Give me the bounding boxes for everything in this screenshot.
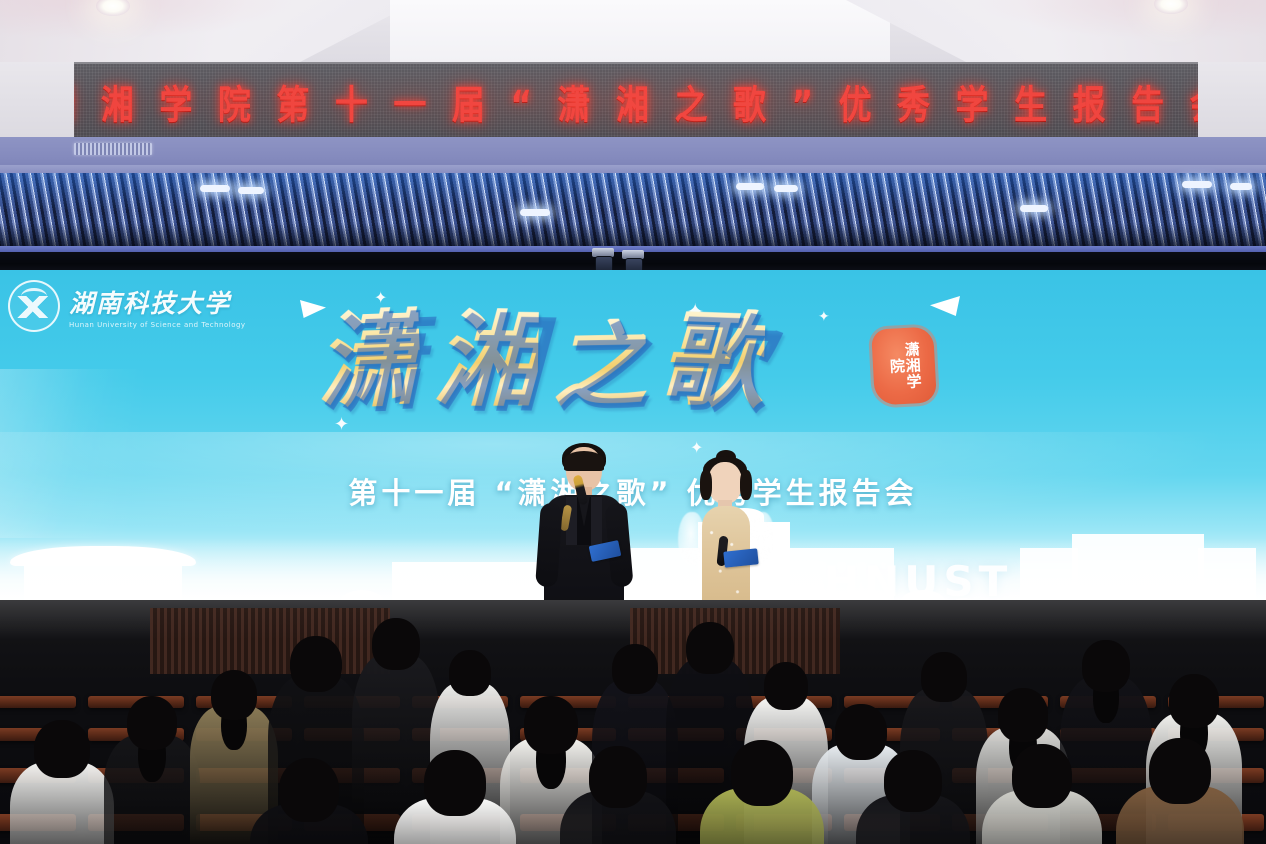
ceiling-center-panel xyxy=(390,0,890,62)
female-host-sleeve-left xyxy=(678,512,704,566)
ceiling xyxy=(0,0,1266,62)
female-host-head xyxy=(708,462,742,504)
led-banner-text: 潇 湘 学 院 第 十 一 届 “ 潇 湘 之 歌 ” 优 秀 学 生 报 告 … xyxy=(74,73,1198,130)
audience-member-head xyxy=(279,758,339,822)
ceiling-light-glare xyxy=(1230,183,1252,190)
audience-member-head xyxy=(764,662,808,710)
title-char: 之 xyxy=(551,318,647,414)
air-vent xyxy=(74,143,152,155)
ceiling-light-glare xyxy=(238,187,264,194)
sparkle-icon: ✦ xyxy=(818,310,830,324)
audience-member-head xyxy=(921,652,967,702)
audience-area xyxy=(0,600,1266,844)
audience-member-head xyxy=(34,720,90,778)
audience-member xyxy=(104,696,200,844)
audience-member xyxy=(1116,738,1244,844)
audience-member xyxy=(250,758,368,844)
female-host-hair-side xyxy=(700,470,712,500)
banner-wall-right xyxy=(1196,62,1266,137)
audience-member-head xyxy=(449,650,491,696)
ceiling-plenum xyxy=(0,137,1266,257)
audience-member-head xyxy=(731,740,793,806)
banner-wall-left xyxy=(0,62,76,137)
red-seal-stamp: 潇湘学院 xyxy=(871,326,937,405)
male-host-fringe xyxy=(564,451,604,471)
audience-member-head xyxy=(998,688,1048,742)
audience-member-head xyxy=(424,750,486,816)
university-name-en: Hunan University of Science and Technolo… xyxy=(69,321,246,329)
ceiling-light-glare xyxy=(200,185,230,192)
cue-cards xyxy=(723,548,758,567)
decor-triangle-icon xyxy=(930,296,960,316)
audience-member-head xyxy=(612,644,658,694)
audience-member-head xyxy=(372,618,420,670)
ceiling-light-glare xyxy=(520,209,550,216)
audience-member-head xyxy=(884,750,942,812)
audience-member xyxy=(856,750,970,844)
university-name-cn: 湖南科技大学 xyxy=(69,284,246,320)
auditorium-photo: 潇 湘 学 院 第 十 一 届 “ 潇 湘 之 歌 ” 优 秀 学 生 报 告 … xyxy=(0,0,1266,844)
audience-member xyxy=(982,744,1102,844)
led-banner: 潇 湘 学 院 第 十 一 届 “ 潇 湘 之 歌 ” 优 秀 学 生 报 告 … xyxy=(74,62,1198,141)
audience-member-head xyxy=(1169,674,1219,728)
event-title-calligraphy: 潇 湘 之 歌 xyxy=(316,308,764,412)
audience-member-head xyxy=(1012,744,1072,808)
ceiling-light-wash-right xyxy=(966,0,1266,40)
audience-member-head xyxy=(1082,640,1130,692)
sparkle-icon: ✦ xyxy=(690,440,703,456)
auditorium-seat xyxy=(0,696,76,708)
university-logo-text: 湖南科技大学 Hunan University of Science and T… xyxy=(69,284,246,329)
audience-member-head xyxy=(290,636,342,692)
audience-member-head xyxy=(686,622,734,674)
audience-member xyxy=(700,740,824,844)
audience-member xyxy=(394,750,516,844)
audience-member-head xyxy=(1149,738,1211,804)
university-emblem-icon xyxy=(8,280,60,332)
ceiling-light-glare xyxy=(1020,205,1048,212)
title-char: 潇 xyxy=(314,306,422,414)
ceiling-light-glare xyxy=(736,183,764,190)
audience-member-head xyxy=(127,696,177,750)
ceiling-light-glare xyxy=(1182,181,1212,188)
university-logo: 湖南科技大学 Hunan University of Science and T… xyxy=(8,280,246,332)
ceiling-light-glare xyxy=(774,185,798,192)
audience-member xyxy=(10,720,114,844)
audience-member-head xyxy=(589,746,647,808)
seal-text: 潇湘学院 xyxy=(887,335,922,397)
title-char: 歌 xyxy=(658,306,766,414)
stage-led-screen: 湖南科技大学 Hunan University of Science and T… xyxy=(0,270,1266,622)
title-char: 湘 xyxy=(433,307,539,413)
audience-member-head xyxy=(211,670,257,720)
ceiling-light-wash-left xyxy=(0,0,300,40)
female-host-hair-side xyxy=(740,470,752,500)
audience-member xyxy=(560,746,676,844)
